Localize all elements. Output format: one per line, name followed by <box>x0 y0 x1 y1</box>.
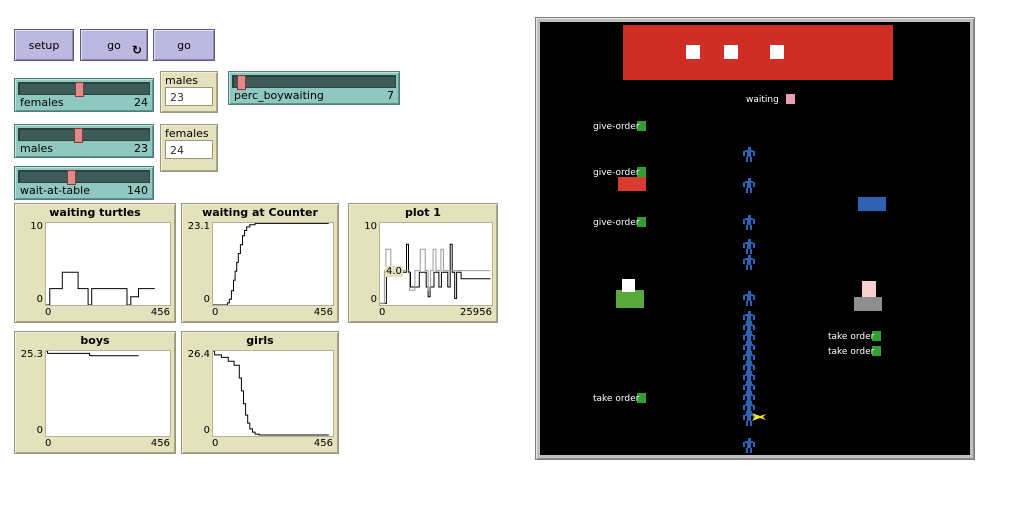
x-axis-max-label: 456 <box>314 307 333 318</box>
perc-boywaiting-slider[interactable]: perc_boywaiting7 <box>228 71 400 105</box>
slider-label: wait-at-table <box>20 184 90 197</box>
slider-track[interactable] <box>18 170 150 183</box>
world-label-text: take order <box>828 347 874 357</box>
plate-on-gray <box>862 281 876 297</box>
x-axis-min-label: 0 <box>45 438 51 449</box>
x-axis-min-label: 0 <box>45 307 51 318</box>
wait-at-table-slider[interactable]: wait-at-table140 <box>14 166 154 200</box>
button-label: setup <box>29 39 60 52</box>
world-label-text: give-order <box>593 122 640 132</box>
y-axis-max-label: 10 <box>18 221 43 232</box>
females-slider[interactable]: females24 <box>14 78 154 112</box>
netlogo-interface: setupgo↻gofemales24perc_boywaiting7males… <box>0 0 1022 509</box>
table-blue <box>858 197 886 211</box>
females-monitor: females24 <box>160 124 218 172</box>
slider-track[interactable] <box>18 82 150 95</box>
setup-button[interactable]: setup <box>14 29 74 61</box>
label-give-order-1-marker <box>637 121 646 131</box>
plot-series-counter-queue <box>213 223 329 305</box>
go-forever-button[interactable]: go↻ <box>80 29 148 61</box>
plot-body: 1000456 <box>15 204 177 324</box>
counter-bar <box>623 25 893 80</box>
x-axis-min-label: 0 <box>212 307 218 318</box>
y-axis-min-label: 0 <box>18 294 43 305</box>
plot-body: 25.300456 <box>15 332 177 455</box>
y-axis-max-label: 26.4 <box>185 349 210 360</box>
world-label-text: give-order <box>593 218 640 228</box>
monitor-label: females <box>165 127 213 140</box>
slider-readout: wait-at-table140 <box>18 184 150 197</box>
y-axis-min-label: 0 <box>185 425 210 436</box>
button-label: go <box>107 39 121 52</box>
person-turtle <box>743 438 755 455</box>
person-turtle <box>743 215 755 234</box>
plot-series-waiting <box>46 272 155 305</box>
slider-thumb[interactable] <box>67 170 76 185</box>
go-once-button[interactable]: go <box>153 29 215 61</box>
plot-boys[interactable]: boys25.300456 <box>14 331 176 454</box>
label-take-order-3-marker <box>637 393 646 403</box>
slider-thumb[interactable] <box>237 75 246 90</box>
plot-inline-label: 4.0 <box>385 266 403 277</box>
plot-canvas <box>45 350 171 437</box>
slider-label: males <box>20 142 53 155</box>
label-take-order-3: take order <box>593 394 639 404</box>
label-waiting-marker <box>786 94 795 104</box>
label-take-order-1: take order <box>828 332 874 342</box>
label-take-order-1-marker <box>872 331 881 341</box>
world-label-text: give-order <box>593 168 640 178</box>
counter-slot-3 <box>770 45 784 59</box>
y-axis-max-label: 23.1 <box>185 221 210 232</box>
y-axis-max-label: 25.3 <box>18 349 43 360</box>
world-label-text: take order <box>828 332 874 342</box>
plot-canvas <box>212 222 334 306</box>
plot-inline-label: 259 <box>459 307 480 318</box>
monitor-value: 23 <box>165 87 213 106</box>
person-turtle <box>743 291 755 310</box>
slider-readout: perc_boywaiting7 <box>232 89 396 102</box>
plot-canvas <box>379 222 493 306</box>
counter-slot-2 <box>724 45 738 59</box>
slider-readout: males23 <box>18 142 150 155</box>
plot-waiting-turtles[interactable]: waiting turtles1000456 <box>14 203 176 323</box>
person-turtle <box>743 178 755 197</box>
person-turtle <box>743 147 755 166</box>
table-gray <box>854 297 882 311</box>
table-green <box>616 290 644 308</box>
plot-girls[interactable]: girls26.400456 <box>181 331 339 454</box>
plot-canvas <box>45 222 171 306</box>
monitor-value: 24 <box>165 140 213 159</box>
plot-waiting-at-counter[interactable]: waiting at Counter23.100456 <box>181 203 339 323</box>
monitor-label: males <box>165 74 213 87</box>
label-give-order-3-marker <box>637 217 646 227</box>
slider-label: females <box>20 96 64 109</box>
label-take-order-2: take order <box>828 347 874 357</box>
recycle-icon: ↻ <box>132 44 142 56</box>
males-monitor: males23 <box>160 71 218 113</box>
x-axis-max-label: 456 <box>151 307 170 318</box>
slider-readout: females24 <box>18 96 150 109</box>
plot-body: 26.400456 <box>182 332 340 455</box>
selected-turtle-cursor[interactable] <box>751 409 767 429</box>
y-axis-min-label: 0 <box>352 294 377 305</box>
label-take-order-2-marker <box>872 346 881 356</box>
y-axis-min-label: 0 <box>185 294 210 305</box>
males-slider[interactable]: males23 <box>14 124 154 158</box>
world-view[interactable]: waitinggive-ordergive-ordergive-ordertak… <box>540 22 970 455</box>
plot-series-girls <box>213 351 329 435</box>
label-give-order-3: give-order <box>593 218 640 228</box>
slider-value: 7 <box>387 89 394 102</box>
label-give-order-2-marker <box>637 167 646 177</box>
table-red <box>618 177 646 191</box>
plot-series-boys <box>46 351 139 356</box>
x-axis-min-label: 0 <box>212 438 218 449</box>
slider-thumb[interactable] <box>75 82 84 97</box>
slider-track[interactable] <box>232 75 396 88</box>
x-axis-max-label: 456 <box>151 438 170 449</box>
label-waiting: waiting <box>746 95 779 105</box>
label-give-order-2: give-order <box>593 168 640 178</box>
slider-thumb[interactable] <box>74 128 83 143</box>
plot-plot-1[interactable]: plot 110004564.0259 <box>348 203 498 323</box>
world-label-text: waiting <box>746 95 779 105</box>
x-axis-min-label: 0 <box>379 307 385 318</box>
plot-body: 23.100456 <box>182 204 340 324</box>
slider-value: 24 <box>134 96 148 109</box>
plot-canvas <box>212 350 334 437</box>
plate-on-green <box>622 279 635 292</box>
plot-body: 10004564.0259 <box>349 204 499 324</box>
y-axis-max-label: 10 <box>352 221 377 232</box>
button-label: go <box>177 39 191 52</box>
slider-label: perc_boywaiting <box>234 89 324 102</box>
label-give-order-1: give-order <box>593 122 640 132</box>
world-label-text: take order <box>593 394 639 404</box>
slider-track[interactable] <box>18 128 150 141</box>
slider-value: 140 <box>127 184 148 197</box>
counter-slot-1 <box>686 45 700 59</box>
y-axis-min-label: 0 <box>18 425 43 436</box>
x-axis-max-label: 456 <box>314 438 333 449</box>
slider-value: 23 <box>134 142 148 155</box>
person-turtle <box>743 255 755 274</box>
